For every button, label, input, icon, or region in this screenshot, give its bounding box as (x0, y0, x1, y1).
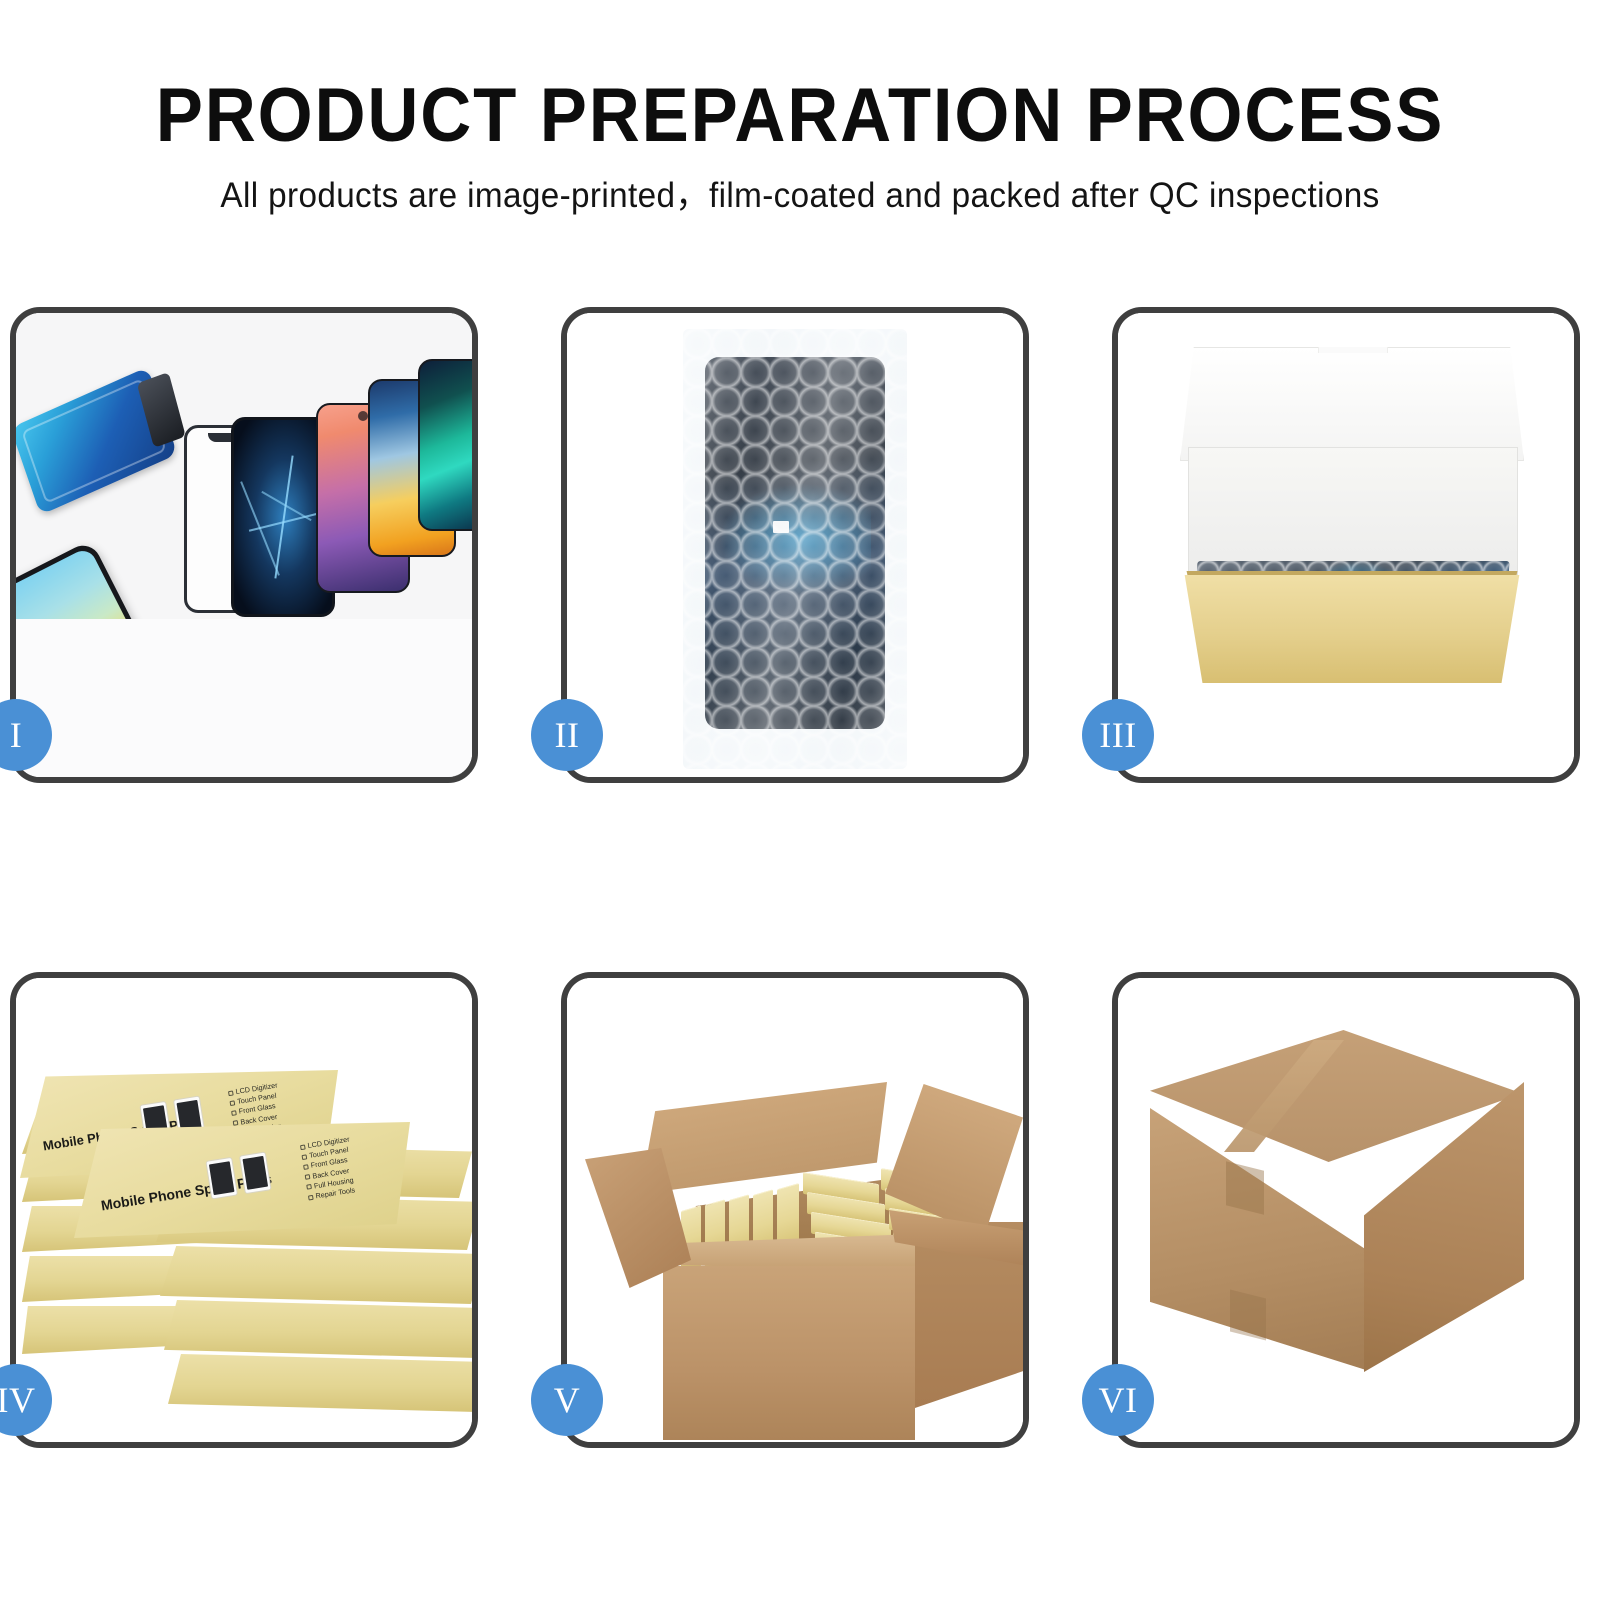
step-image-carton-filling (567, 978, 1023, 1442)
loudspeaker-image (187, 771, 234, 777)
step-panel-spare-parts: I (10, 307, 478, 783)
step-image-inner-box (1118, 313, 1574, 777)
lid-phone-image-c (205, 1157, 238, 1200)
checkbox-icon (306, 1184, 312, 1190)
carton-hand-hole-bottom (1230, 1290, 1266, 1341)
ic-chip-image (216, 693, 262, 737)
step-panel-sealed-carton: VI (1112, 972, 1580, 1448)
checkbox-icon (230, 1100, 236, 1106)
retail-box-lid-bottom: Mobile Phone Spare Parts LCD Digitizer T… (74, 1122, 410, 1238)
checkbox-icon (303, 1164, 309, 1170)
infographic-page: PRODUCT PREPARATION PROCESS All products… (0, 0, 1600, 1600)
stacked-box-right-4 (164, 1300, 472, 1358)
stacked-box-right-3 (160, 1246, 472, 1304)
lid-phone-image-d (239, 1151, 272, 1194)
header: PRODUCT PREPARATION PROCESS All products… (0, 0, 1600, 213)
checkbox-icon (305, 1174, 311, 1180)
teal-phone-image (418, 359, 472, 531)
checkbox-icon (233, 1120, 239, 1126)
sim-tray-image (122, 765, 142, 777)
flex-cable-a-image (283, 626, 345, 654)
checkbox-icon (300, 1144, 306, 1150)
camera-module-image (198, 747, 244, 763)
phone-parts-scene (16, 313, 472, 777)
open-carton-scene (567, 978, 1023, 1442)
wireless-charging-coil-image (212, 623, 256, 667)
step-image-retail-box-stack: Mobile Phone Spare Parts LCD Digitizer T… (16, 978, 472, 1442)
step-panel-retail-box-stack: Mobile Phone Spare Parts LCD Digitizer T… (10, 972, 478, 1448)
checkbox-icon (308, 1195, 314, 1201)
flex-cable-b-image (287, 655, 347, 679)
step-panel-bubble-wrap: II (561, 307, 1029, 783)
checkbox-icon (228, 1090, 234, 1096)
page-title: PRODUCT PREPARATION PROCESS (56, 78, 1544, 154)
step-image-bubble-wrap (567, 313, 1023, 777)
earpiece-speaker-image (138, 649, 212, 662)
mailer-lid-image (1180, 347, 1524, 461)
stacked-box-right-5 (168, 1354, 472, 1412)
flex-cable-e-image (271, 695, 345, 722)
carton-front-face (663, 1266, 915, 1440)
step-badge-5: V (531, 1364, 603, 1436)
checkbox-icon (231, 1110, 237, 1116)
sealed-carton-scene (1118, 978, 1574, 1442)
flex-cable-d-image (131, 715, 167, 771)
process-steps-grid: I II (10, 307, 1580, 1448)
step-badge-6: VI (1082, 1364, 1154, 1436)
tweezers-tool-image (444, 774, 472, 777)
step-panel-inner-box: III (1112, 307, 1580, 783)
vibration-motor-image (278, 765, 304, 777)
bubble-wrap-scene (567, 313, 1023, 777)
page-subtitle: All products are image-printed，film-coat… (40, 178, 1560, 213)
lid-phone-images-bottom (205, 1151, 271, 1199)
blue-film-backplate-image (16, 367, 178, 515)
flex-cable-f-image (281, 714, 340, 745)
screwdriver-tool-image (448, 680, 472, 722)
mailer-box-scene (1118, 313, 1574, 777)
step-image-spare-parts (16, 313, 472, 777)
carton-hand-hole-top (1226, 1161, 1264, 1214)
phone-back-housing-image (293, 686, 472, 777)
step-image-sealed-carton (1118, 978, 1574, 1442)
step-badge-2: II (531, 699, 603, 771)
retail-box-stack-scene: Mobile Phone Spare Parts LCD Digitizer T… (16, 978, 472, 1442)
button-component-image (262, 753, 284, 775)
checkbox-icon (302, 1154, 308, 1160)
checklist-bottom: LCD Digitizer Touch Panel Front Glass Ba… (300, 1134, 359, 1202)
step-panel-carton-filling: V (561, 972, 1029, 1448)
mailer-tray-image (1174, 575, 1530, 683)
plastic-sheen-image (683, 329, 907, 769)
flex-cable-c-image (128, 695, 180, 715)
step-badge-3: III (1082, 699, 1154, 771)
